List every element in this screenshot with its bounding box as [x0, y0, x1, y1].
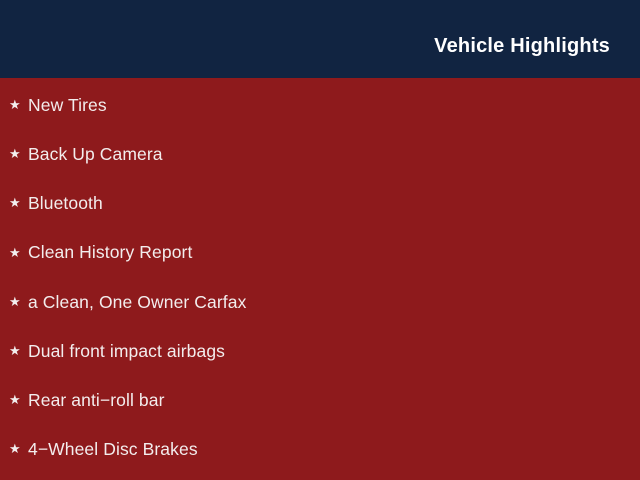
list-item[interactable]: ★ Bluetooth	[0, 179, 640, 228]
star-icon: ★	[9, 344, 28, 357]
star-icon: ★	[9, 246, 28, 259]
list-item[interactable]: ★ 4−Wheel Disc Brakes	[0, 425, 640, 474]
page-header: Vehicle Highlights	[0, 0, 640, 78]
star-icon: ★	[9, 147, 28, 160]
list-item[interactable]: ★ a Clean, One Owner Carfax	[0, 278, 640, 327]
list-item-label: New Tires	[28, 97, 107, 115]
list-item-label: Back Up Camera	[28, 146, 163, 164]
star-icon: ★	[9, 98, 28, 111]
page-title: Vehicle Highlights	[434, 22, 640, 56]
list-item[interactable]: ★ Rear anti−roll bar	[0, 376, 640, 425]
list-item[interactable]: ★ New Tires	[0, 81, 640, 130]
star-icon: ★	[9, 442, 28, 455]
star-icon: ★	[9, 295, 28, 308]
list-item-label: Bluetooth	[28, 195, 103, 213]
star-icon: ★	[9, 196, 28, 209]
vehicle-highlights-screen: Vehicle Highlights ★ New Tires ★ Back Up…	[0, 0, 640, 480]
highlights-list: ★ New Tires ★ Back Up Camera ★ Bluetooth…	[0, 78, 640, 475]
list-item-label: Rear anti−roll bar	[28, 392, 165, 410]
list-item-label: 4−Wheel Disc Brakes	[28, 441, 198, 459]
list-item[interactable]: ★ Back Up Camera	[0, 130, 640, 179]
list-item-label: a Clean, One Owner Carfax	[28, 294, 246, 312]
list-item-label: Dual front impact airbags	[28, 343, 225, 361]
list-item[interactable]: ★ Dual front impact airbags	[0, 327, 640, 376]
highlights-panel: ★ New Tires ★ Back Up Camera ★ Bluetooth…	[0, 78, 640, 480]
list-item-label: Clean History Report	[28, 244, 192, 262]
star-icon: ★	[9, 393, 28, 406]
list-item[interactable]: ★ Clean History Report	[0, 229, 640, 278]
